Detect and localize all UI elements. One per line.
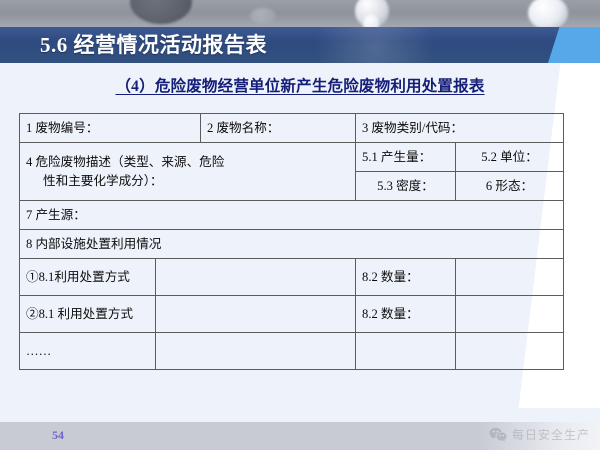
page-number: 54 bbox=[52, 428, 64, 443]
cell-density[interactable]: 5.3 密度： bbox=[356, 172, 456, 201]
table-row: ②8.1 利用处置方式 8.2 数量： bbox=[20, 296, 564, 333]
cell-quantity-1-value[interactable] bbox=[456, 259, 564, 296]
cell-waste-number[interactable]: 1 废物编号： bbox=[20, 114, 201, 143]
table-row: 1 废物编号： 2 废物名称： 3 废物类别/代码： bbox=[20, 114, 564, 143]
cell-quantity-2-value[interactable] bbox=[456, 296, 564, 333]
subtitle-text: （4）危险废物经营单位新产生危险废物利用处置报表 bbox=[115, 78, 484, 95]
cell-internal-facility-header[interactable]: 8 内部设施处置利用情况 bbox=[20, 230, 564, 259]
cell-generation-source[interactable]: 7 产生源： bbox=[20, 201, 564, 230]
bubble-decoration-icon bbox=[130, 0, 192, 24]
table-row: 4 危险废物描述（类型、来源、危险 性和主要化学成分）： 5.1 产生量： 5.… bbox=[20, 143, 564, 172]
title-banner: 5.6 经营情况活动报告表 bbox=[0, 27, 600, 63]
table-row: ①8.1利用处置方式 8.2 数量： bbox=[20, 259, 564, 296]
banner-accent-block bbox=[548, 27, 600, 63]
watermark-text: 每日安全生产 bbox=[512, 426, 590, 443]
cell-quantity-1[interactable]: 8.2 数量： bbox=[356, 259, 456, 296]
cell-ellipsis-quantity[interactable] bbox=[356, 333, 456, 370]
bubble-decoration-icon bbox=[528, 0, 568, 30]
table-row: 7 产生源： bbox=[20, 201, 564, 230]
cell-waste-category-code[interactable]: 3 废物类别/代码： bbox=[356, 114, 564, 143]
table-row: 8 内部设施处置利用情况 bbox=[20, 230, 564, 259]
slide-footer: 54 每日安全生产 bbox=[0, 422, 600, 450]
cell-disposal-method-2[interactable]: ②8.1 利用处置方式 bbox=[20, 296, 156, 333]
cell-disposal-method-1-value[interactable] bbox=[156, 259, 356, 296]
cell-ellipsis-quantity-value[interactable] bbox=[456, 333, 564, 370]
cell-generation-amount[interactable]: 5.1 产生量： bbox=[356, 143, 456, 172]
bubble-decoration-icon bbox=[250, 8, 276, 24]
cell-unit[interactable]: 5.2 单位： bbox=[456, 143, 564, 172]
cell-quantity-2[interactable]: 8.2 数量： bbox=[356, 296, 456, 333]
banner-glow-decoration bbox=[300, 27, 450, 63]
description-line-1: 4 危险废物描述（类型、来源、危险 bbox=[26, 155, 224, 169]
cell-waste-name[interactable]: 2 废物名称： bbox=[201, 114, 356, 143]
cell-ellipsis[interactable]: …… bbox=[20, 333, 156, 370]
cell-disposal-method-1[interactable]: ①8.1利用处置方式 bbox=[20, 259, 156, 296]
cell-waste-description[interactable]: 4 危险废物描述（类型、来源、危险 性和主要化学成分）： bbox=[20, 143, 356, 201]
subtitle: （4）危险废物经营单位新产生危险废物利用处置报表 bbox=[0, 74, 600, 96]
table-row: …… bbox=[20, 333, 564, 370]
wechat-icon bbox=[489, 427, 507, 442]
hazardous-waste-form-table: 1 废物编号： 2 废物名称： 3 废物类别/代码： 4 危险废物描述（类型、来… bbox=[19, 113, 564, 370]
slide: 5.6 经营情况活动报告表 （4）危险废物经营单位新产生危险废物利用处置报表 1… bbox=[0, 0, 600, 450]
cell-ellipsis-value[interactable] bbox=[156, 333, 356, 370]
cell-disposal-method-2-value[interactable] bbox=[156, 296, 356, 333]
watermark: 每日安全生产 bbox=[489, 426, 590, 443]
top-photo-strip bbox=[0, 0, 600, 30]
description-line-2: 性和主要化学成分）： bbox=[26, 172, 349, 190]
cell-form-state[interactable]: 6 形态： bbox=[456, 172, 564, 201]
page-title: 5.6 经营情况活动报告表 bbox=[40, 28, 267, 62]
